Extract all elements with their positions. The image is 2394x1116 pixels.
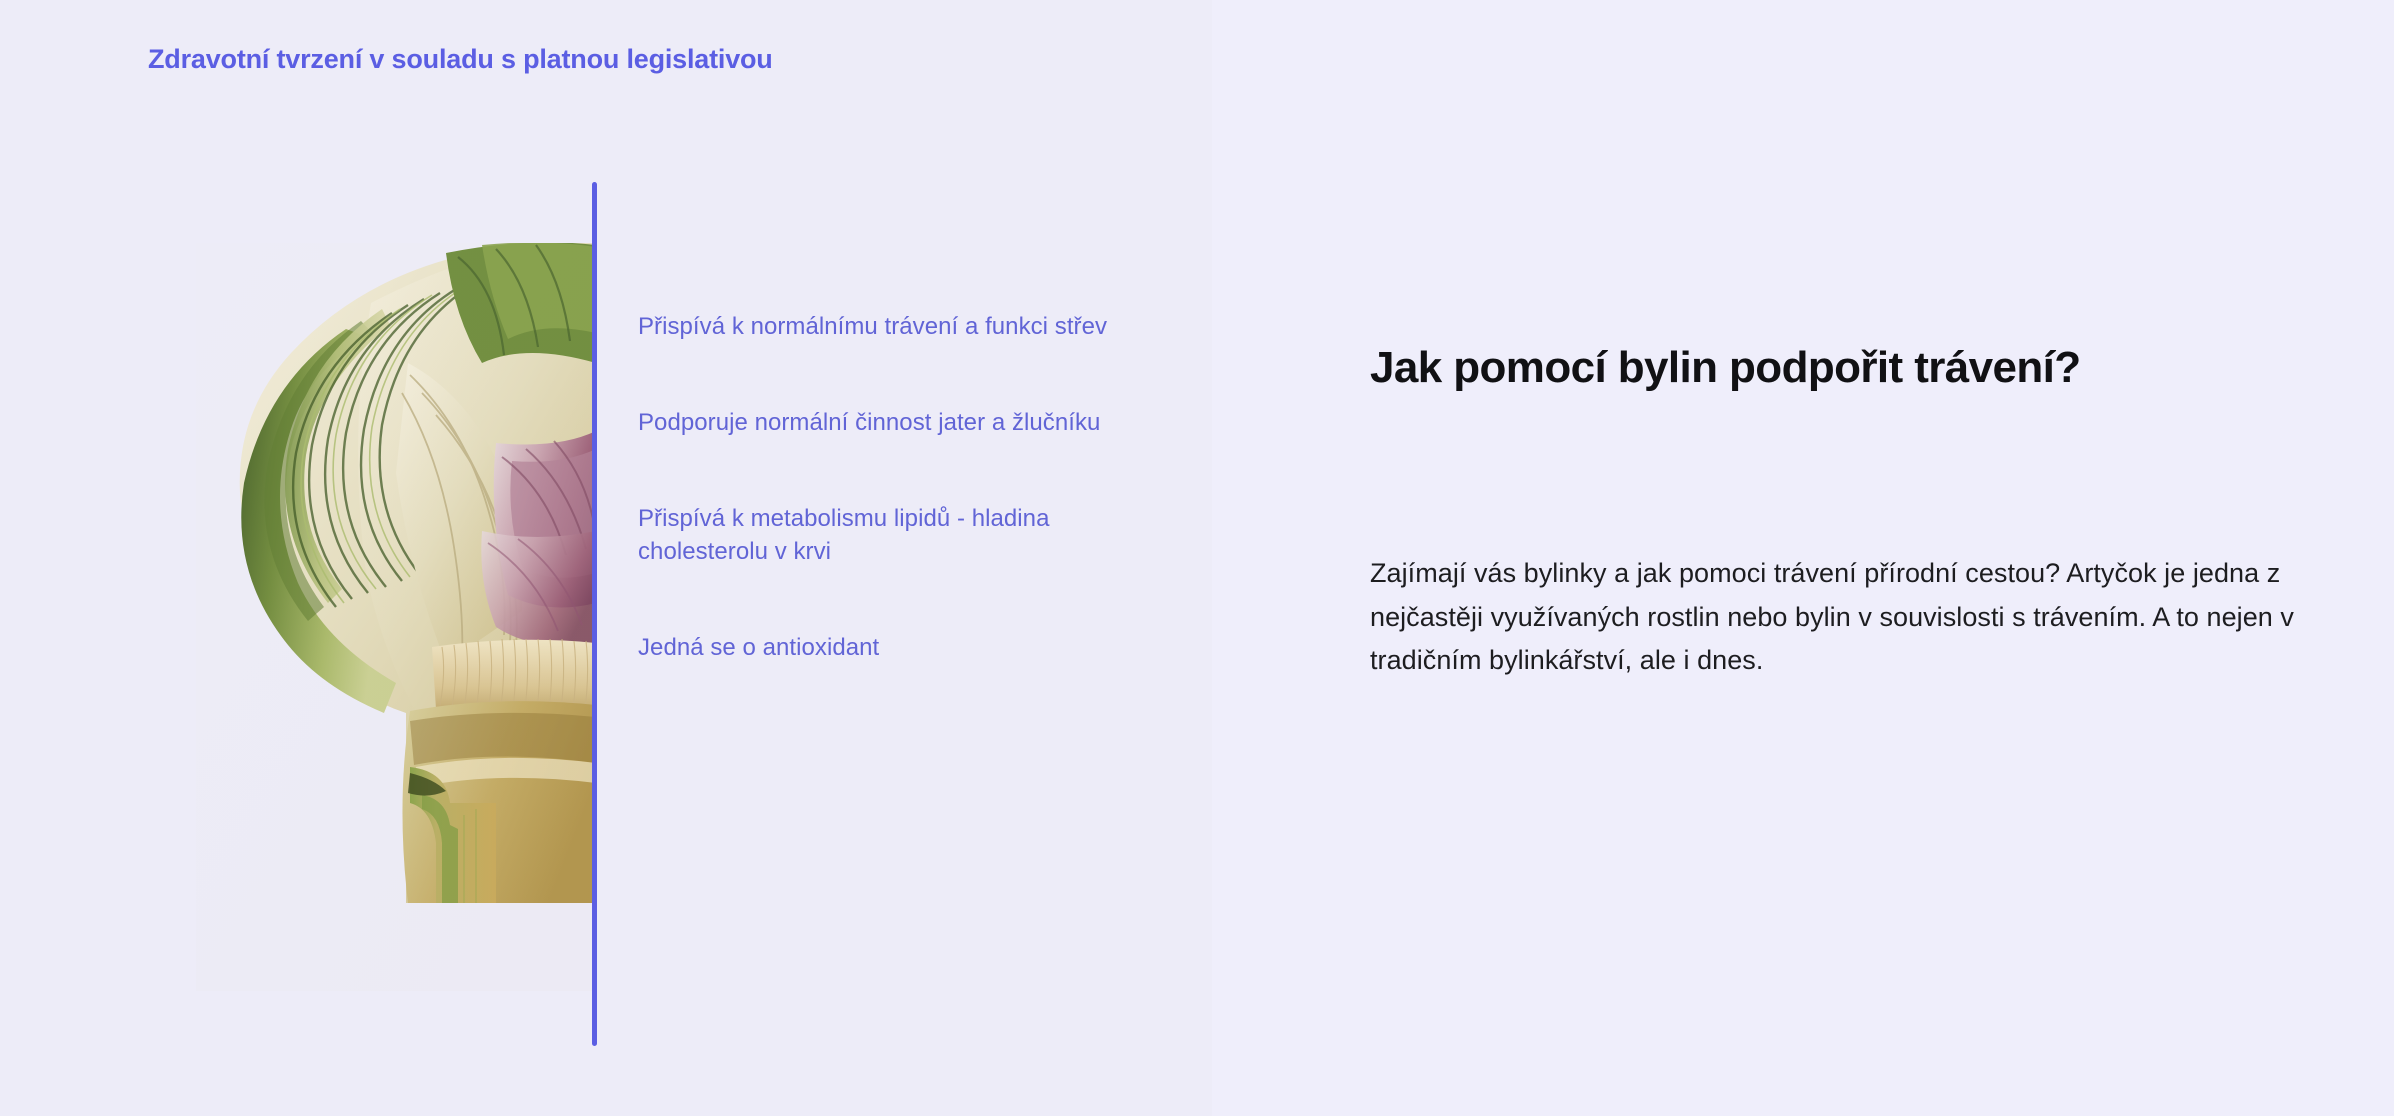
claim-item-lipid-metabolism: Přispívá k metabolismu lipidů - hladina …	[638, 502, 1158, 568]
article-section: Jak pomocí bylin podpořit trávení? Zajím…	[1370, 0, 2394, 1116]
health-claims-section: Zdravotní tvrzení v souladu s platnou le…	[0, 0, 1212, 1116]
artichoke-half-photo	[196, 243, 596, 991]
section-title: Zdravotní tvrzení v souladu s platnou le…	[148, 44, 773, 75]
page-root: Zdravotní tvrzení v souladu s platnou le…	[0, 0, 2394, 1116]
article-body-text: Zajímají vás bylinky a jak pomoci tráven…	[1370, 552, 2360, 683]
claim-item-liver-gallbladder: Podporuje normální činnost jater a žlučn…	[638, 406, 1158, 439]
claim-item-digestion: Přispívá k normálnímu trávení a funkci s…	[638, 310, 1158, 343]
article-heading: Jak pomocí bylin podpořit trávení?	[1370, 340, 2250, 396]
health-claims-list: Přispívá k normálnímu trávení a funkci s…	[638, 310, 1158, 665]
vertical-divider	[592, 182, 597, 1046]
claim-item-antioxidant: Jedná se o antioxidant	[638, 631, 1158, 664]
